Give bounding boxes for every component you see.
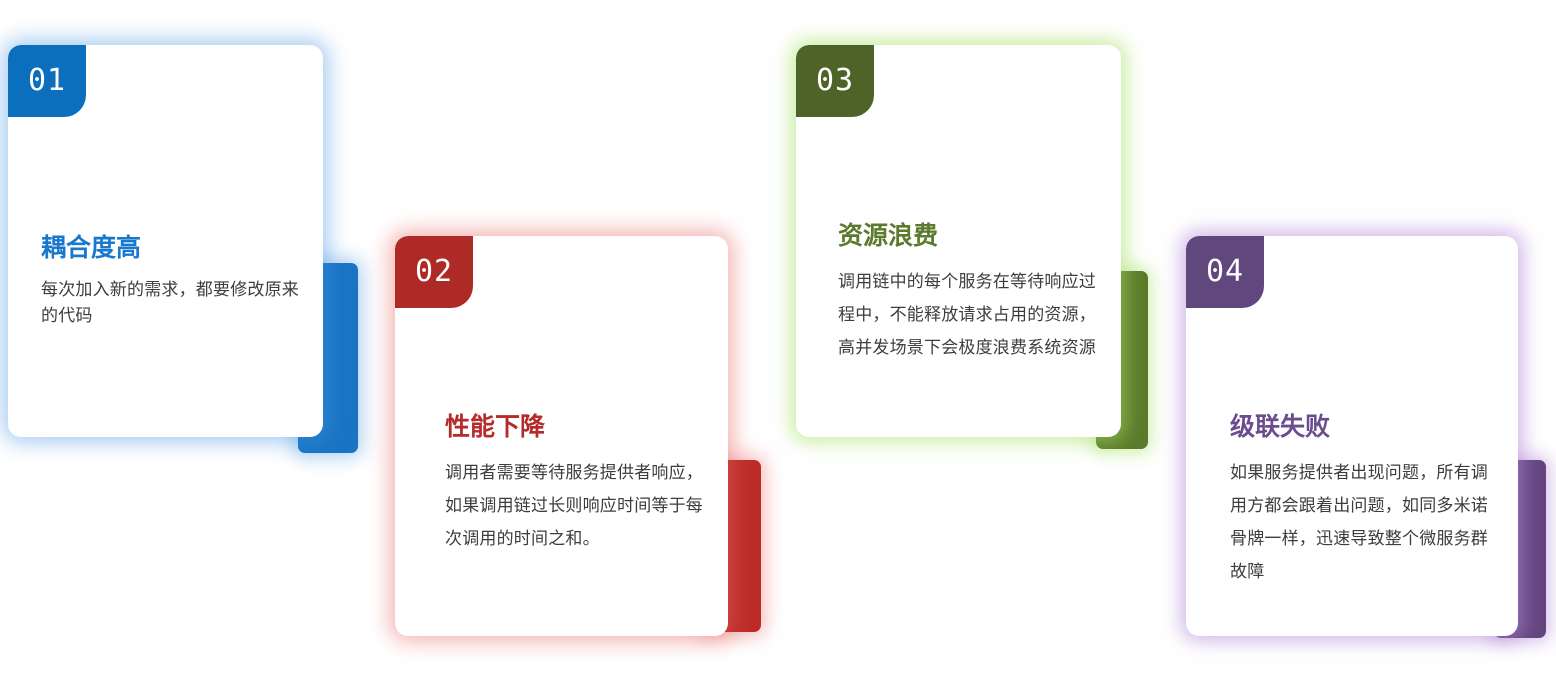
card-04-body: 级联失败 如果服务提供者出现问题，所有调用方都会跟着出问题，如同多米诺骨牌一样，… bbox=[1230, 412, 1498, 589]
card-03-number-badge: 03 bbox=[796, 45, 874, 117]
card-03-surface[interactable]: 03 资源浪费 调用链中的每个服务在等待响应过程中，不能释放请求占用的资源，高并… bbox=[796, 45, 1121, 437]
card-01-title: 耦合度高 bbox=[41, 233, 301, 263]
card-01-surface[interactable]: 01 耦合度高 每次加入新的需求，都要修改原来的代码 bbox=[8, 45, 323, 437]
info-card-01[interactable]: 01 耦合度高 每次加入新的需求，都要修改原来的代码 bbox=[8, 45, 368, 457]
info-card-02[interactable]: 02 性能下降 调用者需要等待服务提供者响应，如果调用链过长则响应时间等于每次调… bbox=[395, 236, 760, 648]
card-04-surface[interactable]: 04 级联失败 如果服务提供者出现问题，所有调用方都会跟着出问题，如同多米诺骨牌… bbox=[1186, 236, 1518, 636]
card-02-surface[interactable]: 02 性能下降 调用者需要等待服务提供者响应，如果调用链过长则响应时间等于每次调… bbox=[395, 236, 728, 636]
card-01-body: 耦合度高 每次加入新的需求，都要修改原来的代码 bbox=[41, 233, 301, 328]
card-04-text: 如果服务提供者出现问题，所有调用方都会跟着出问题，如同多米诺骨牌一样，迅速导致整… bbox=[1230, 456, 1498, 589]
info-card-03[interactable]: 03 资源浪费 调用链中的每个服务在等待响应过程中，不能释放请求占用的资源，高并… bbox=[796, 45, 1151, 457]
card-04-number: 04 bbox=[1206, 257, 1244, 287]
card-01-number: 01 bbox=[28, 66, 66, 96]
card-deck-canvas: 01 耦合度高 每次加入新的需求，都要修改原来的代码 02 性能下降 调用者需要… bbox=[0, 0, 1556, 678]
card-02-number: 02 bbox=[415, 257, 453, 287]
info-card-04[interactable]: 04 级联失败 如果服务提供者出现问题，所有调用方都会跟着出问题，如同多米诺骨牌… bbox=[1186, 236, 1541, 648]
card-04-title: 级联失败 bbox=[1230, 412, 1498, 442]
card-03-number: 03 bbox=[816, 66, 854, 96]
card-02-body: 性能下降 调用者需要等待服务提供者响应，如果调用链过长则响应时间等于每次调用的时… bbox=[445, 412, 704, 555]
card-02-number-badge: 02 bbox=[395, 236, 473, 308]
card-03-text: 调用链中的每个服务在等待响应过程中，不能释放请求占用的资源，高并发场景下会极度浪… bbox=[838, 265, 1097, 364]
card-01-number-badge: 01 bbox=[8, 45, 86, 117]
card-01-text: 每次加入新的需求，都要修改原来的代码 bbox=[41, 277, 301, 328]
card-03-body: 资源浪费 调用链中的每个服务在等待响应过程中，不能释放请求占用的资源，高并发场景… bbox=[838, 221, 1097, 364]
card-02-text: 调用者需要等待服务提供者响应，如果调用链过长则响应时间等于每次调用的时间之和。 bbox=[445, 456, 704, 555]
card-02-title: 性能下降 bbox=[445, 412, 704, 442]
card-03-title: 资源浪费 bbox=[838, 221, 1097, 251]
card-04-number-badge: 04 bbox=[1186, 236, 1264, 308]
